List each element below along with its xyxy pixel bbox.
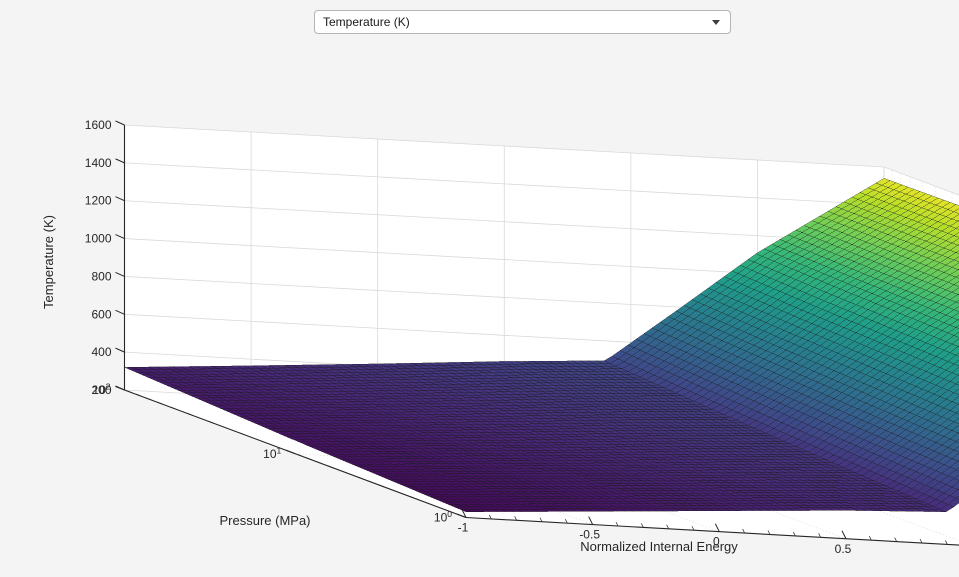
surface-plot: 2004006008001000120014001600102101100-1-… xyxy=(0,0,959,577)
figure-window: Temperature (K) 200400600800100012001400… xyxy=(0,0,959,577)
axes: 2004006008001000120014001600102101100-1-… xyxy=(41,118,959,577)
